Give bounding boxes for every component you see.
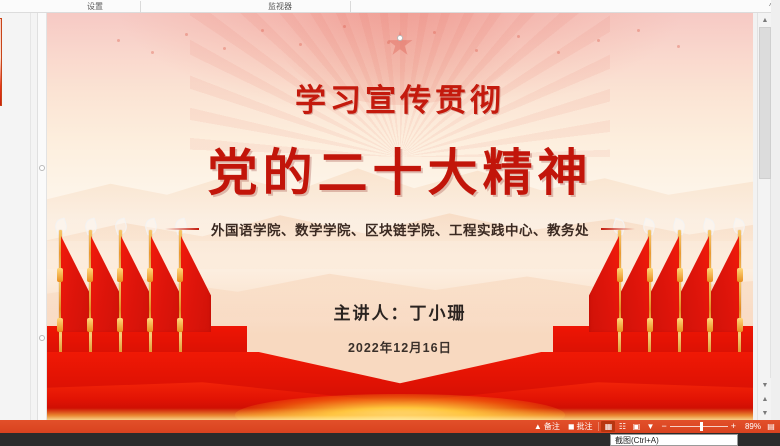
desktop-strip: 截图(Ctrl+A) xyxy=(0,433,780,446)
department-text: 外国语学院、数学学院、区块链学院、工程实践中心、教务处 xyxy=(211,219,589,239)
zoom-control[interactable]: − + 89% xyxy=(657,422,765,431)
date-text[interactable]: 2022年12月16日 xyxy=(47,337,753,356)
speaker-text[interactable]: 主讲人：丁小珊 xyxy=(47,299,753,324)
application-window: 设置 监视器 ^ xyxy=(0,0,780,446)
zoom-slider-knob[interactable] xyxy=(700,422,703,431)
slide-surface[interactable]: 学习宣传贯彻 党的二十大精神 外国语学院、数学学院、区块链学院、工程实践中心、教… xyxy=(47,13,753,420)
screenshot-tooltip: 截图(Ctrl+A) xyxy=(610,434,738,446)
status-divider xyxy=(598,422,599,431)
flag-ornament xyxy=(737,268,743,282)
window-right-gutter xyxy=(771,0,780,446)
flag-ornament xyxy=(177,268,183,282)
comments-label: 批注 xyxy=(576,421,592,432)
flag-ornament xyxy=(647,268,653,282)
comment-icon: ◼ xyxy=(568,423,575,431)
scrollbar-thumb[interactable] xyxy=(759,27,771,179)
slide-title-small[interactable]: 学习宣传贯彻 xyxy=(47,75,753,120)
notes-button[interactable]: ▲ 备注 xyxy=(530,420,564,433)
tab-settings[interactable]: 设置 xyxy=(60,0,130,13)
flag-ornament xyxy=(617,268,623,282)
vertical-scrollbar[interactable]: ▲ ▼ ▲ ▼ xyxy=(757,13,771,420)
view-slideshow[interactable]: ▼ xyxy=(643,421,657,432)
prev-slide-icon[interactable]: ▲ xyxy=(758,392,772,406)
caret-down-icon[interactable]: ▼ xyxy=(758,378,772,392)
status-bar: ▲ 备注 ◼ 批注 ▦ ☷ ▣ ▼ − + 89% ▤ xyxy=(0,420,780,433)
slide-title-large[interactable]: 党的二十大精神 xyxy=(47,133,753,205)
view-normal[interactable]: ▦ xyxy=(601,421,615,432)
notes-label: 备注 xyxy=(544,421,560,432)
slide-canvas[interactable]: 学习宣传贯彻 党的二十大精神 外国语学院、数学学院、区块链学院、工程实践中心、教… xyxy=(47,13,753,420)
caret-up-icon[interactable]: ▲ xyxy=(758,13,772,27)
fit-to-window-icon[interactable]: ▤ xyxy=(765,421,777,432)
bottom-ribbon-decoration xyxy=(47,352,753,420)
tab-divider xyxy=(140,1,141,13)
view-slide-sorter[interactable]: ☷ xyxy=(615,421,629,432)
flag-ornament xyxy=(677,268,683,282)
thumbnail-scrollbar[interactable] xyxy=(30,13,37,420)
splitter-handle-top[interactable] xyxy=(39,165,45,171)
next-slide-icon[interactable]: ▼ xyxy=(758,406,772,420)
zoom-percent-label: 89% xyxy=(739,422,761,431)
plus-icon[interactable]: + xyxy=(731,422,736,431)
zoom-slider-track[interactable] xyxy=(670,426,728,427)
slide-thumbnail-pane[interactable] xyxy=(0,13,38,420)
flag-ornament xyxy=(117,268,123,282)
rule-left xyxy=(165,228,199,230)
flag-ornament xyxy=(707,268,713,282)
ribbon-glow-edge xyxy=(47,408,753,420)
notes-icon: ▲ xyxy=(534,423,542,431)
minus-icon[interactable]: − xyxy=(661,422,666,431)
title-group: 学习宣传贯彻 党的二十大精神 外国语学院、数学学院、区块链学院、工程实践中心、教… xyxy=(47,13,753,239)
splitter-handle-bottom[interactable] xyxy=(39,335,45,341)
slide-thumbnail-1[interactable] xyxy=(0,18,2,106)
view-reading[interactable]: ▣ xyxy=(629,421,643,432)
flag-ornament xyxy=(147,268,153,282)
department-line[interactable]: 外国语学院、数学学院、区块链学院、工程实践中心、教务处 xyxy=(47,219,753,239)
ribbon-tab-strip: 设置 监视器 ^ xyxy=(0,0,780,13)
rule-right xyxy=(601,228,635,230)
flag-ornament xyxy=(57,268,63,282)
pane-splitter[interactable] xyxy=(38,13,47,420)
flag-ornament xyxy=(87,268,93,282)
tab-monitor[interactable]: 监视器 xyxy=(245,0,315,13)
tab-divider xyxy=(350,1,351,13)
comments-button[interactable]: ◼ 批注 xyxy=(564,420,597,433)
